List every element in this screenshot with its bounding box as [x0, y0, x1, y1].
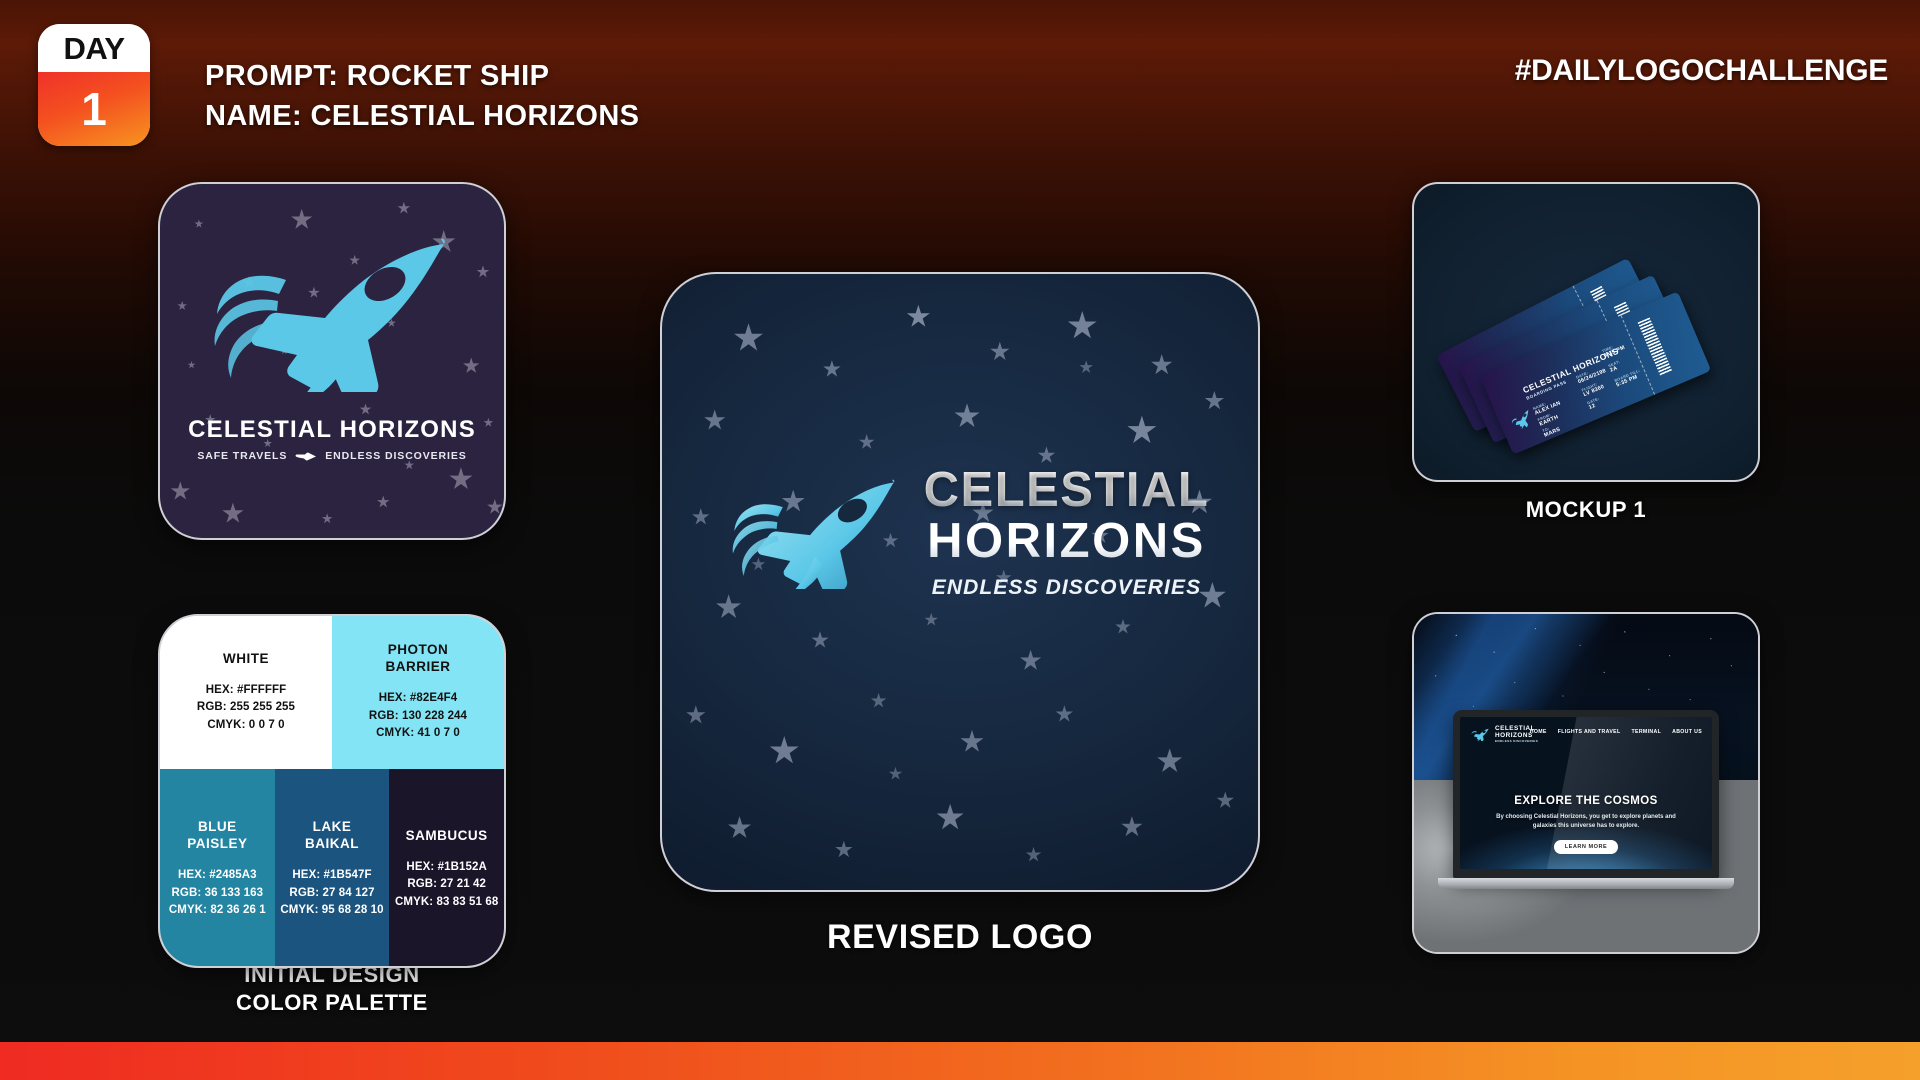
swatch-name: SAMBUCUS — [406, 828, 488, 845]
ticket-field-gate: GATE: 12 — [1587, 397, 1603, 411]
star-decoration — [170, 481, 190, 501]
star-decoration — [1157, 748, 1183, 774]
star-decoration — [871, 693, 887, 709]
swatch-photon-barrier[interactable]: PHOTONBARRIER HEX: #82E4F4 RGB: 130 228 … — [332, 616, 504, 769]
star-decoration — [1579, 644, 1581, 646]
site-brand-tagline: ENDLESS DISCOVERIES — [1495, 739, 1538, 743]
star-decoration — [1079, 360, 1093, 374]
star-decoration — [1127, 416, 1157, 446]
swatch-cmyk: CMYK: 83 83 51 68 — [395, 894, 498, 911]
revised-wordmark: CELESTIAL HORIZONS ENDLESS DISCOVERIES — [924, 466, 1210, 600]
star-decoration — [936, 804, 964, 832]
nav-item-terminal[interactable]: TERMINAL — [1632, 729, 1662, 735]
swatch-name: PHOTONBARRIER — [385, 642, 450, 676]
initial-brand-name: CELESTIAL HORIZONS — [160, 416, 504, 444]
palette-row-top: WHITE HEX: #FFFFFF RGB: 255 255 255 CMYK… — [160, 616, 504, 769]
star-decoration — [222, 503, 244, 525]
swatch-cmyk: CMYK: 82 36 26 1 — [169, 902, 266, 919]
swatch-hex: HEX: #2485A3 — [178, 867, 257, 884]
star-decoration — [1730, 665, 1732, 667]
star-decoration — [1121, 816, 1143, 838]
star-decoration — [734, 323, 764, 353]
star-decoration — [1216, 791, 1234, 809]
star-decoration — [888, 767, 902, 781]
star-decoration — [1472, 705, 1474, 707]
day-badge-label: DAY — [63, 33, 124, 64]
star-decoration — [1493, 651, 1495, 653]
hero-heading: EXPLORE THE COSMOS — [1460, 795, 1712, 807]
swatch-rgb: RGB: 255 255 255 — [197, 699, 295, 716]
mini-rocket-icon — [295, 452, 317, 461]
star-decoration — [1624, 631, 1626, 633]
star-decoration — [1603, 671, 1605, 673]
swatch-hex: HEX: #82E4F4 — [379, 690, 458, 707]
day-badge-top: DAY — [38, 24, 150, 72]
laptop-screen-bezel: CELESTIAL HORIZONS ENDLESS DISCOVERIES H… — [1453, 710, 1719, 878]
day-badge: DAY 1 — [38, 24, 150, 146]
swatch-cmyk: CMYK: 95 68 28 10 — [280, 902, 383, 919]
site-logo[interactable]: CELESTIAL HORIZONS ENDLESS DISCOVERIES — [1469, 725, 1538, 743]
star-decoration — [377, 496, 390, 509]
swatch-hex: HEX: #1B547F — [292, 867, 371, 884]
star-decoration — [704, 410, 726, 432]
header-text-block: PROMPT: ROCKET SHIP NAME: CELESTIAL HORI… — [205, 56, 639, 136]
star-decoration — [769, 736, 799, 766]
star-decoration — [1435, 675, 1437, 677]
initial-design-card[interactable]: CELESTIAL HORIZONS SAFE TRAVELS ENDLESS … — [158, 182, 506, 540]
revised-tagline: ENDLESS DISCOVERIES — [924, 576, 1210, 600]
swatch-rgb: RGB: 27 21 42 — [407, 876, 486, 893]
revised-logo-caption: REVISED LOGO — [660, 918, 1260, 957]
star-decoration — [322, 513, 333, 524]
star-decoration — [835, 841, 853, 859]
star-decoration — [1669, 655, 1671, 657]
laptop-device: CELESTIAL HORIZONS ENDLESS DISCOVERIES H… — [1453, 710, 1719, 889]
hero-section: EXPLORE THE COSMOS By choosing Celestial… — [1460, 795, 1712, 854]
star-decoration — [728, 816, 752, 840]
star-decoration — [1455, 634, 1457, 636]
ticket-field-seat: SEAT: 2A — [1608, 360, 1623, 374]
swatch-rgb: RGB: 27 84 127 — [289, 885, 374, 902]
star-decoration — [1648, 688, 1650, 690]
star-decoration — [1026, 847, 1042, 863]
star-decoration — [1151, 354, 1173, 376]
star-decoration — [291, 209, 313, 231]
star-decoration — [1055, 705, 1073, 723]
revised-line1: CELESTIAL — [924, 466, 1210, 514]
star-decoration — [859, 434, 875, 450]
star-decoration — [811, 631, 829, 649]
learn-more-button[interactable]: LEARN MORE — [1554, 840, 1619, 854]
star-decoration — [1020, 650, 1042, 672]
swatch-cmyk: CMYK: 41 0 7 0 — [376, 725, 460, 742]
star-decoration — [1514, 682, 1516, 684]
swatch-sambucus[interactable]: SAMBUCUS HEX: #1B152A RGB: 27 21 42 CMYK… — [389, 769, 504, 968]
mockup1-card[interactable]: CELESTIAL HORIZONS BOARDING PASS CELESTI… — [1412, 182, 1760, 482]
swatch-name: LAKEBAIKAL — [305, 819, 359, 853]
barcode-icon — [1638, 317, 1673, 375]
star-decoration — [194, 219, 203, 228]
swatch-rgb: RGB: 36 133 163 — [172, 885, 264, 902]
nav-item-about-us[interactable]: ABOUT US — [1672, 729, 1702, 735]
nav-item-flights-and-travel[interactable]: FLIGHTS AND TRAVEL — [1558, 729, 1621, 735]
revised-line2: HORIZONS — [924, 514, 1210, 569]
nav-item-home[interactable]: HOME — [1530, 729, 1547, 735]
mockup1-caption: MOCKUP 1 — [1412, 497, 1760, 523]
presentation-canvas: DAY 1 PROMPT: ROCKET SHIP NAME: CELESTIA… — [0, 0, 1920, 1080]
star-decoration — [1067, 311, 1097, 341]
ticket-field-board-till: BOARD TILL: 5:35 PM — [1614, 369, 1643, 389]
hero-body: By choosing Celestial Horizons, you get … — [1460, 813, 1712, 831]
header: DAY 1 PROMPT: ROCKET SHIP NAME: CELESTIA… — [0, 0, 1920, 170]
swatch-hex: HEX: #1B152A — [406, 859, 486, 876]
site-navigation: HOME FLIGHTS AND TRAVEL TERMINAL ABOUT U… — [1530, 729, 1702, 735]
star-decoration — [397, 202, 410, 215]
footer-accent-bar — [0, 1042, 1920, 1080]
mockup2-card[interactable]: CELESTIAL HORIZONS ENDLESS DISCOVERIES H… — [1412, 612, 1760, 954]
swatch-cmyk: CMYK: 0 0 7 0 — [207, 717, 284, 734]
star-decoration — [1689, 699, 1691, 701]
day-badge-bottom: 1 — [38, 72, 150, 146]
star-decoration — [1115, 619, 1131, 635]
star-decoration — [954, 403, 980, 429]
initial-tagline: SAFE TRAVELS ENDLESS DISCOVERIES — [160, 450, 504, 462]
swatch-name: WHITE — [223, 651, 269, 668]
swatch-hex: HEX: #FFFFFF — [206, 682, 286, 699]
rocket-icon — [711, 473, 916, 589]
star-decoration — [990, 342, 1010, 362]
star-decoration — [960, 730, 984, 754]
color-palette-card[interactable]: WHITE HEX: #FFFFFF RGB: 255 255 255 CMYK… — [158, 614, 506, 968]
rocket-icon — [1469, 727, 1491, 741]
laptop-base — [1438, 878, 1734, 889]
star-decoration — [924, 613, 938, 627]
challenge-hashtag: #DAILYLOGOCHALLENGE — [1515, 54, 1888, 88]
tagline-left: SAFE TRAVELS — [197, 450, 287, 462]
swatch-rgb: RGB: 130 228 244 — [369, 708, 467, 725]
swatch-name: BLUEPAISLEY — [187, 819, 247, 853]
prompt-line: PROMPT: ROCKET SHIP — [205, 56, 639, 96]
day-badge-number: 1 — [81, 86, 107, 132]
rocket-icon — [182, 232, 482, 392]
revised-logo-card[interactable]: CELESTIAL HORIZONS ENDLESS DISCOVERIES — [660, 272, 1260, 892]
star-decoration — [449, 467, 473, 491]
star-decoration — [1562, 695, 1564, 697]
swatch-white[interactable]: WHITE HEX: #FFFFFF RGB: 255 255 255 CMYK… — [160, 616, 332, 769]
star-decoration — [906, 305, 930, 329]
star-decoration — [1710, 638, 1712, 640]
revised-logo-lockup: CELESTIAL HORIZONS ENDLESS DISCOVERIES — [662, 462, 1258, 600]
initial-rocket-logo — [160, 232, 504, 417]
swatch-blue-paisley[interactable]: BLUEPAISLEY HEX: #2485A3 RGB: 36 133 163… — [160, 769, 275, 968]
swatch-lake-baikal[interactable]: LAKEBAIKAL HEX: #1B547F RGB: 27 84 127 C… — [275, 769, 390, 968]
palette-row-bottom: BLUEPAISLEY HEX: #2485A3 RGB: 36 133 163… — [160, 769, 504, 968]
name-line: NAME: CELESTIAL HORIZONS — [205, 96, 639, 136]
star-decoration — [686, 705, 706, 725]
star-decoration — [1204, 391, 1224, 411]
star-decoration — [823, 360, 841, 378]
tagline-right: ENDLESS DISCOVERIES — [325, 450, 466, 462]
website-viewport[interactable]: CELESTIAL HORIZONS ENDLESS DISCOVERIES H… — [1460, 717, 1712, 869]
color-palette-caption: COLOR PALETTE — [158, 990, 506, 1016]
star-decoration — [487, 499, 503, 515]
star-decoration — [1534, 628, 1536, 630]
